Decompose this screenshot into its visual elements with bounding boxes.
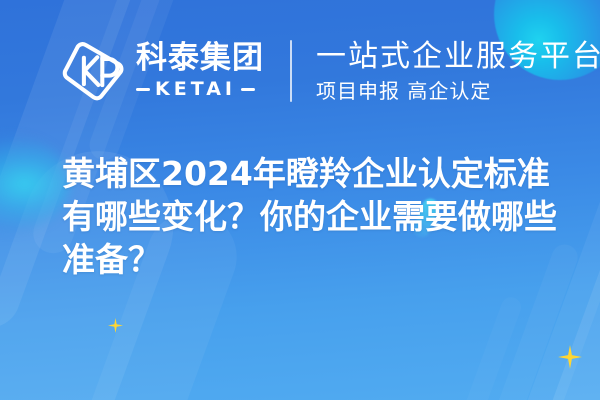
dash-left-icon [136, 88, 150, 91]
promo-banner: 科泰集团 KETAI 一站式企业服务平台 项目申报 高企认定 黄埔区2024年瞪… [0, 0, 600, 400]
brand-name-en-row: KETAI [136, 80, 264, 99]
cyan-glow-icon [0, 136, 70, 232]
sparkle-star-icon-large [558, 345, 582, 369]
diagonal-stripe-right-4 [416, 294, 524, 400]
brand-name-cn: 科泰集团 [136, 43, 264, 74]
brand-logo[interactable]: 科泰集团 KETAI [62, 40, 264, 102]
tagline-main: 一站式企业服务平台 [316, 40, 600, 74]
banner-header: 科泰集团 KETAI 一站式企业服务平台 项目申报 高企认定 [0, 0, 600, 142]
page-title: 黄埔区2024年瞪羚企业认定标准有哪些变化？你的企业需要做哪些准备？ [62, 152, 572, 281]
sparkle-star-icon-small [108, 318, 123, 333]
tagline-sub: 项目申报 高企认定 [316, 80, 600, 102]
header-divider [290, 40, 292, 102]
ketai-monogram-icon [62, 40, 124, 102]
tagline-block: 一站式企业服务平台 项目申报 高企认定 [316, 40, 600, 103]
brand-name-en: KETAI [155, 80, 236, 99]
brand-wordmark: 科泰集团 KETAI [136, 43, 264, 99]
dash-right-icon [241, 88, 255, 91]
